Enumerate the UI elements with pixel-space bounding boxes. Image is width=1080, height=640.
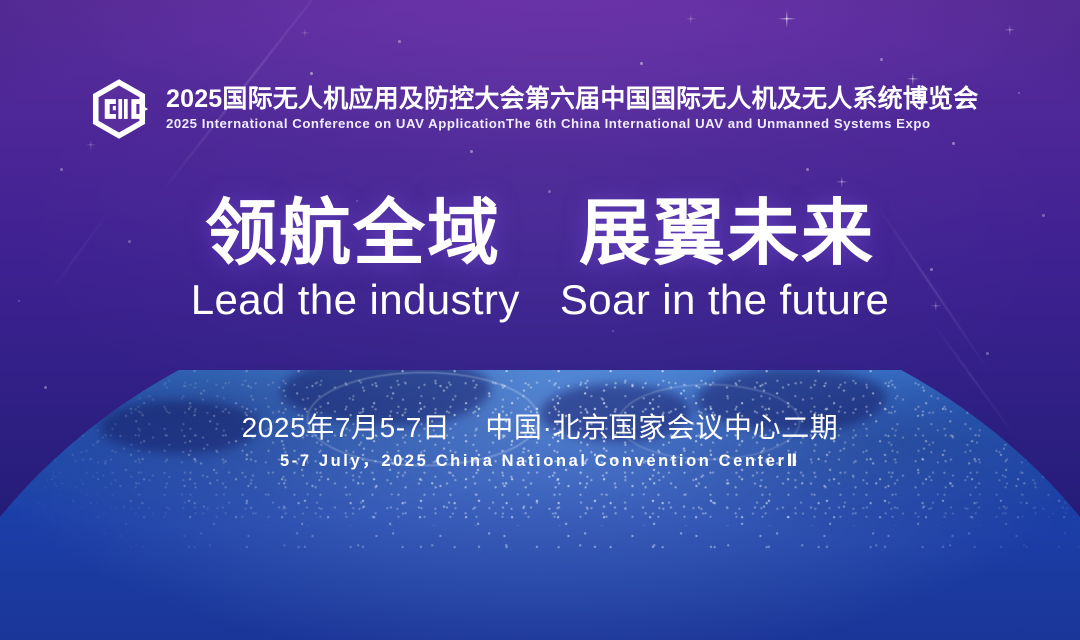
hero-headline-en: Lead the industry Soar in the future [0,276,1080,324]
hero-headline-cn-part2: 展翼未来 [579,194,875,274]
hero-headline-en-part2: Soar in the future [560,276,889,323]
conference-banner: 2025国际无人机应用及防控大会第六届中国国际无人机及无人系统博览会 2025 … [0,0,1080,640]
hero-block: 领航全域 展翼未来 Lead the industry Soar in the … [0,196,1080,324]
event-venue-cn: 中国·北京国家会议中心二期 [485,412,838,443]
hero-headline-cn: 领航全域 展翼未来 [0,196,1080,274]
event-date-cn: 2025年7月5-7日 [242,412,451,443]
header-text-block: 2025国际无人机应用及防控大会第六届中国国际无人机及无人系统博览会 2025 … [166,86,978,132]
event-date-venue-en: 5-7 July，2025 China National Convention … [0,452,1080,472]
event-date-venue-cn: 2025年7月5-7日 中国·北京国家会议中心二期 [0,410,1080,445]
conference-title-en: 2025 International Conference on UAV App… [166,117,978,132]
event-meta-block: 2025年7月5-7日 中国·北京国家会议中心二期 5-7 July，2025 … [0,410,1080,472]
hero-headline-en-part1: Lead the industry [191,276,520,323]
conference-title-cn: 2025国际无人机应用及防控大会第六届中国国际无人机及无人系统博览会 [166,86,978,114]
banner-header: 2025国际无人机应用及防控大会第六届中国国际无人机及无人系统博览会 2025 … [88,78,978,140]
guc-hexagon-logo-icon [88,78,150,140]
hero-headline-cn-part1: 领航全域 [205,194,501,274]
